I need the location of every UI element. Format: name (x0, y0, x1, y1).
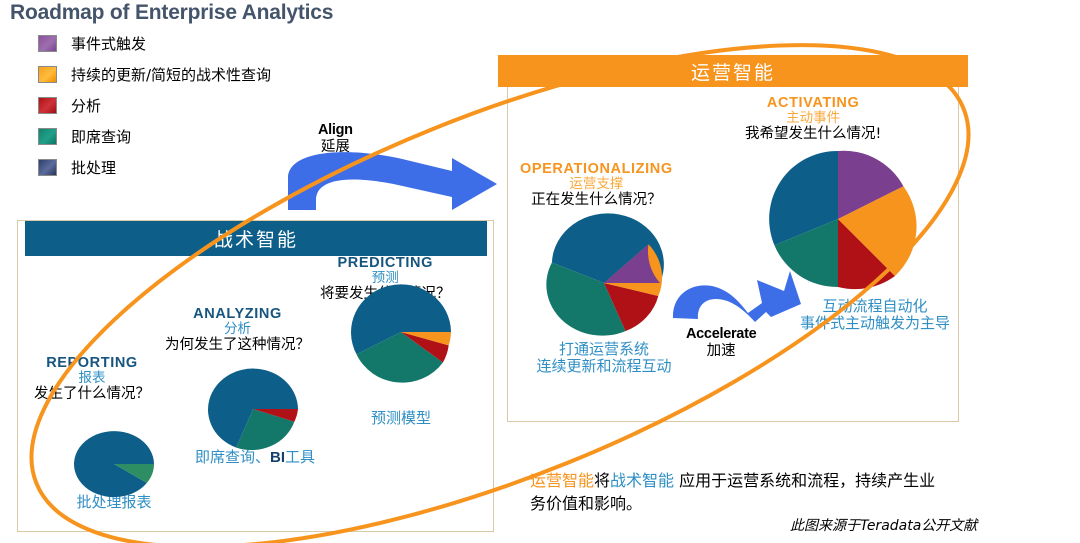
align-arrow-icon (288, 152, 497, 210)
accelerate-arrow-icon (673, 271, 801, 322)
slide-canvas: Roadmap of Enterprise Analytics 事件式触发 持续… (0, 0, 1080, 543)
arrows-layer (0, 0, 1080, 543)
